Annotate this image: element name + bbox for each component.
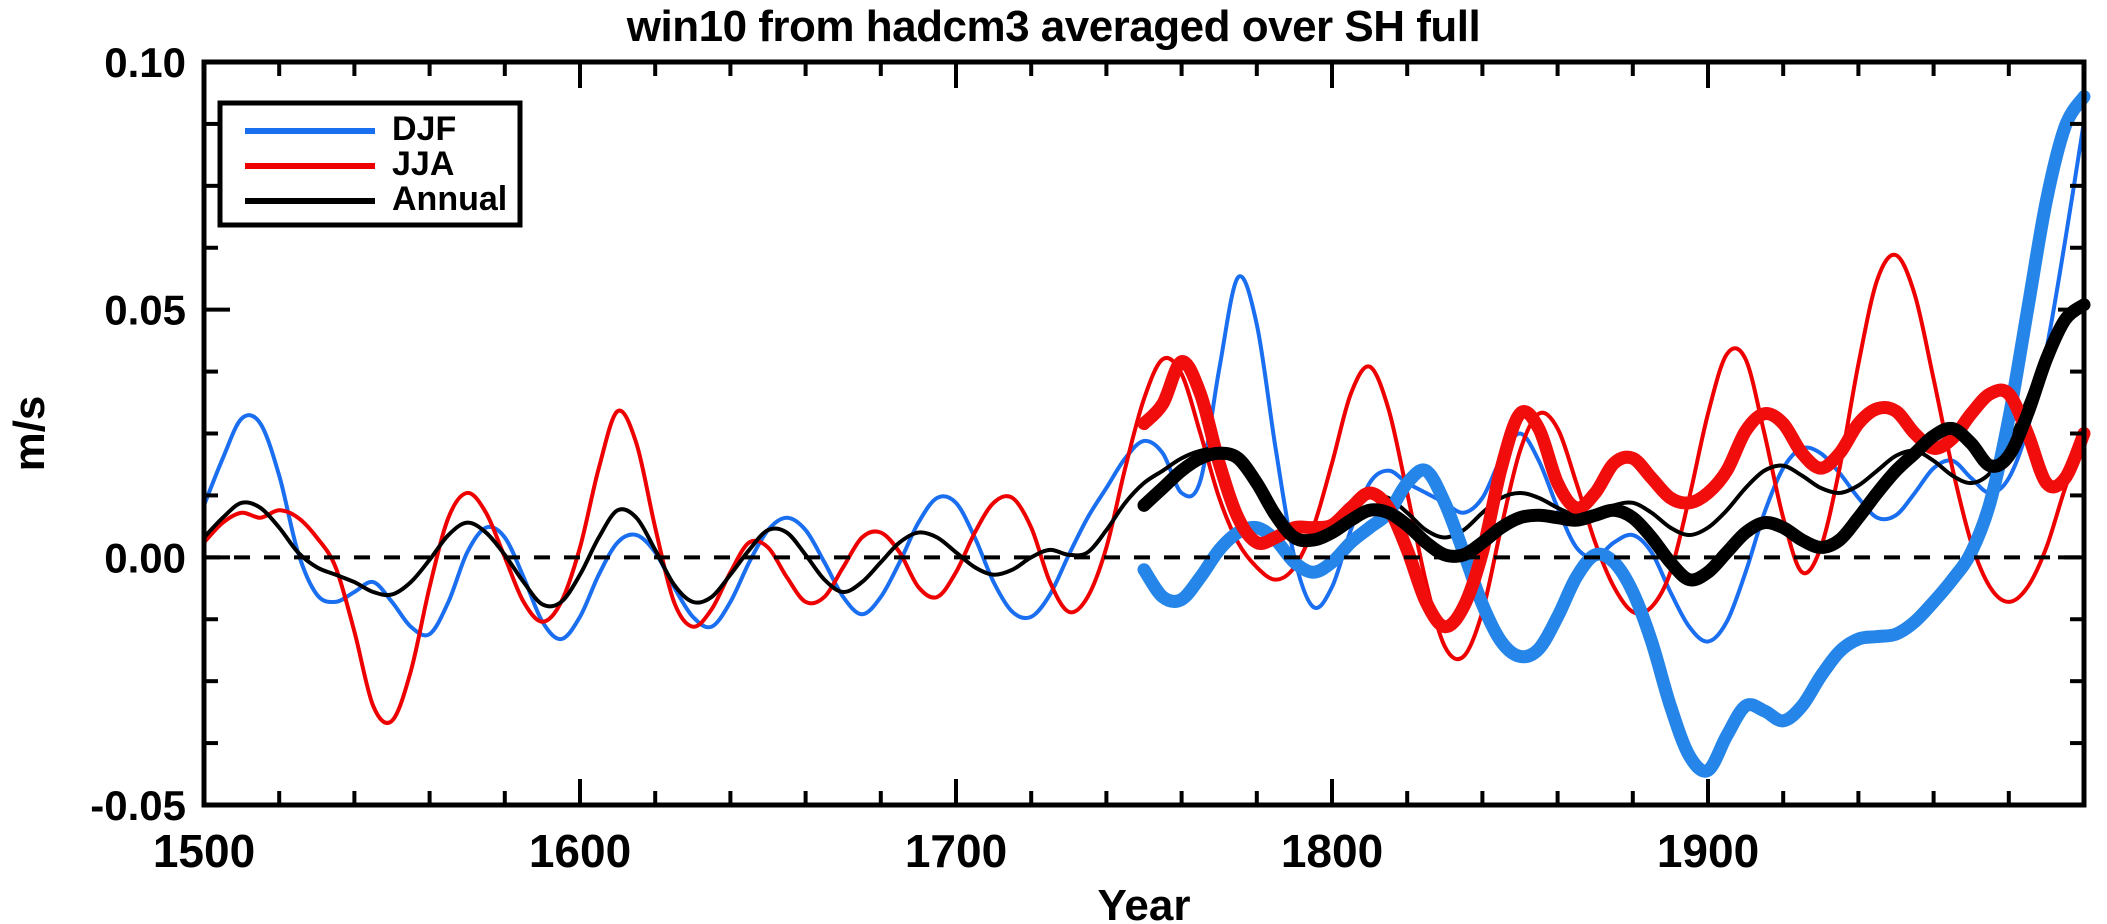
x-tick-label: 1700	[905, 825, 1007, 877]
y-tick-label: -0.05	[90, 782, 186, 829]
chart-legend[interactable]: DJFJJAAnnual	[220, 103, 520, 225]
series-line-jja-thin	[204, 255, 2084, 723]
y-axis-title: m/s	[5, 396, 54, 472]
x-tick-label: 1500	[153, 825, 255, 877]
x-tick-label: 1600	[529, 825, 631, 877]
y-axis-tick-labels: -0.050.000.050.10	[90, 39, 186, 829]
figure-root: win10 from hadcm3 averaged over SH full …	[0, 0, 2107, 924]
y-tick-label: 0.10	[104, 39, 186, 86]
x-tick-label: 1900	[1657, 825, 1759, 877]
y-tick-label: 0.05	[104, 287, 186, 334]
legend-label-djf: DJF	[392, 110, 456, 148]
legend-label-annual: Annual	[392, 180, 507, 218]
legend-label-jja: JJA	[392, 145, 454, 183]
x-axis-title: Year	[1098, 881, 1191, 924]
chart-canvas: -0.050.000.050.10 15001600170018001900 m…	[0, 0, 2107, 924]
y-tick-label: 0.00	[104, 534, 186, 581]
x-axis-tick-labels: 15001600170018001900	[153, 825, 1759, 877]
x-tick-label: 1800	[1281, 825, 1383, 877]
